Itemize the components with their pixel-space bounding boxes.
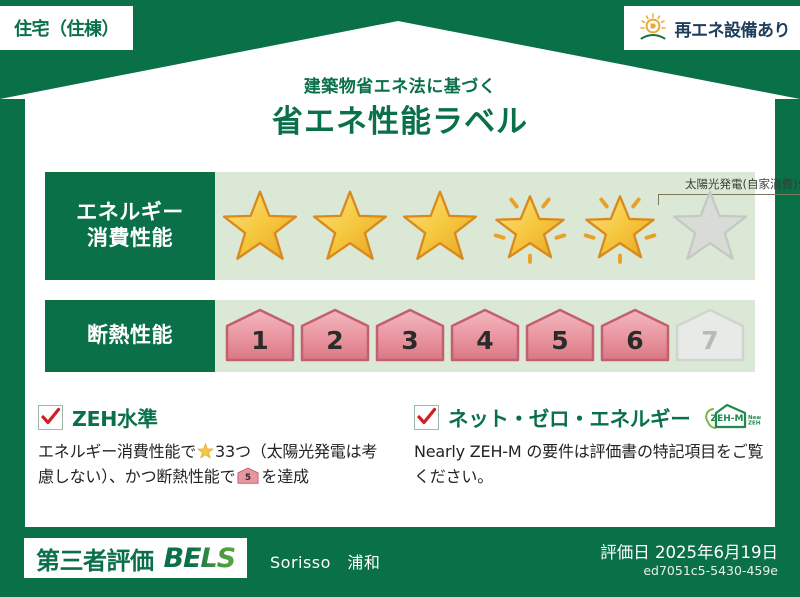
- svg-text:7: 7: [701, 326, 718, 355]
- zeh-star-count: 3: [215, 442, 225, 461]
- insulation-level-list: 1 2 3: [215, 300, 755, 372]
- zeh-standard-block: ZEH水準 エネルギー消費性能で33つ（太陽光発電は考慮しない）、かつ断熱性能で…: [38, 402, 390, 490]
- label-title: 省エネ性能ラベル: [0, 96, 800, 141]
- evaluation-id: ed7051c5-5430-459e: [643, 563, 778, 578]
- star-6-empty: [665, 188, 755, 264]
- star-3: [395, 188, 485, 264]
- zeh-desc-prefix: エネルギー消費性能で: [38, 442, 196, 461]
- energy-label-line2: 消費性能: [87, 226, 173, 252]
- energy-performance-row: エネルギー 消費性能 太陽光発電(自家消費)分: [45, 172, 755, 280]
- insulation-level-2: 2: [298, 307, 373, 365]
- bels-certification-plate: 第三者評価 BELS: [24, 538, 247, 578]
- energy-label-line1: エネルギー: [76, 200, 184, 226]
- svg-text:ZEH-M: ZEH-M: [711, 414, 744, 424]
- right-green-edge: [775, 99, 800, 527]
- label-footer: 第三者評価 BELS Sorisso 浦和 評価日 2025年6月19日 ed7…: [0, 527, 800, 597]
- insulation-level-7-empty: 7: [672, 307, 747, 365]
- insulation-level-1: 1: [223, 307, 298, 365]
- label-subtitle: 建築物省エネ法に基づく: [0, 72, 800, 97]
- svg-text:5: 5: [245, 473, 251, 483]
- insulation-level-field: 1 2 3: [215, 300, 755, 372]
- star-4: [485, 188, 575, 264]
- svg-text:3: 3: [401, 326, 418, 355]
- property-name: Sorisso 浦和: [270, 549, 380, 573]
- net-zero-energy-header: ネット・ゼロ・エネルギー ZEH-M Nearly ZEH-M: [414, 402, 766, 432]
- net-zero-energy-checkbox[interactable]: [414, 405, 439, 430]
- zeh-m-logo-icon: ZEH-M Nearly ZEH-M: [699, 402, 761, 432]
- sun-renewable-icon: [638, 13, 668, 43]
- certification-checks: ZEH水準 エネルギー消費性能で33つ（太陽光発電は考慮しない）、かつ断熱性能で…: [38, 402, 768, 490]
- svg-text:4: 4: [476, 326, 493, 355]
- dwelling-type-tag: 住宅（住棟）: [0, 6, 133, 50]
- svg-text:6: 6: [626, 326, 643, 355]
- bels-logo-text: BELS: [164, 543, 236, 574]
- bels-third-party-label: 第三者評価: [36, 541, 154, 576]
- insulation-level-4: 4: [448, 307, 523, 365]
- svg-text:1: 1: [252, 326, 269, 355]
- left-green-edge: [0, 99, 25, 527]
- insulation-performance-row: 断熱性能 1 2: [45, 300, 755, 372]
- star-rating: [215, 172, 755, 280]
- insulation-label: 断熱性能: [87, 323, 173, 349]
- renewable-equipment-tag: 再エネ設備あり: [624, 6, 800, 50]
- net-zero-energy-description: Nearly ZEH-M の要件は評価書の特記項目をご覧ください。: [414, 440, 766, 490]
- star-2: [305, 188, 395, 264]
- zeh-standard-header: ZEH水準: [38, 402, 390, 432]
- energy-performance-label: 住宅（住棟） 再エネ設備あり 建築物省エネ法に基づく 省エ: [0, 0, 800, 597]
- renewable-equipment-label: 再エネ設備あり: [675, 16, 791, 41]
- inline-house-icon: 5: [237, 467, 259, 485]
- zeh-standard-checkbox[interactable]: [38, 405, 63, 430]
- svg-text:5: 5: [551, 326, 568, 355]
- insulation-performance-label-box: 断熱性能: [45, 300, 215, 372]
- energy-performance-label-box: エネルギー 消費性能: [45, 172, 215, 280]
- zeh-standard-title: ZEH水準: [72, 402, 158, 432]
- svg-text:ZEH-M: ZEH-M: [748, 421, 761, 427]
- inline-star-icon: [197, 443, 214, 459]
- svg-text:2: 2: [327, 326, 344, 355]
- dwelling-type-label: 住宅（住棟）: [14, 15, 119, 41]
- net-zero-energy-block: ネット・ゼロ・エネルギー ZEH-M Nearly ZEH-M Nearly Z…: [414, 402, 766, 490]
- insulation-level-6: 6: [597, 307, 672, 365]
- star-1: [215, 188, 305, 264]
- star-5: [575, 188, 665, 264]
- evaluation-date: 評価日 2025年6月19日: [600, 539, 778, 563]
- zeh-desc-suffix: を達成: [261, 467, 308, 486]
- insulation-level-3: 3: [373, 307, 448, 365]
- insulation-level-5: 5: [522, 307, 597, 365]
- net-zero-energy-title: ネット・ゼロ・エネルギー: [448, 402, 690, 432]
- zeh-standard-description: エネルギー消費性能で33つ（太陽光発電は考慮しない）、かつ断熱性能で5を達成: [38, 440, 390, 490]
- energy-star-field: 太陽光発電(自家消費)分: [215, 172, 755, 280]
